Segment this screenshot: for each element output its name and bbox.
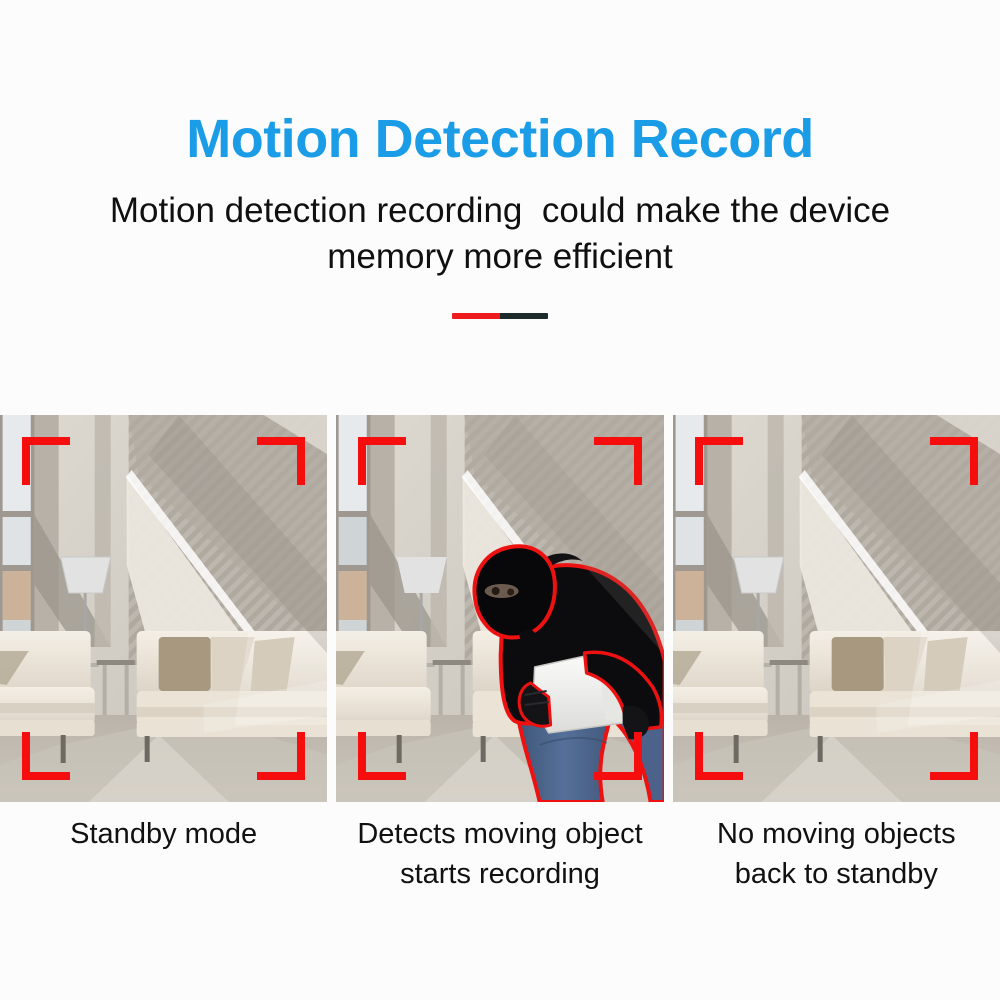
divider-segment-red xyxy=(452,313,500,319)
scene-panel-standby[interactable] xyxy=(0,415,327,802)
room-scene-with-intruder-graphic xyxy=(336,415,663,802)
panel-row xyxy=(0,415,1000,802)
divider-wrapper xyxy=(0,279,1000,319)
caption-detecting: Detects moving object starts recording xyxy=(336,812,663,932)
room-scene-graphic xyxy=(0,415,327,802)
page-subtitle: Motion detection recording could make th… xyxy=(0,166,1000,279)
caption-back-to-standby: No moving objects back to standby xyxy=(673,812,1000,932)
caption-standby: Standby mode xyxy=(0,812,327,932)
caption-row: Standby mode Detects moving object start… xyxy=(0,812,1000,932)
scene-panel-back-to-standby[interactable] xyxy=(673,415,1000,802)
infographic-page: Motion Detection Record Motion detection… xyxy=(0,0,1000,1000)
page-title: Motion Detection Record xyxy=(0,0,1000,166)
divider xyxy=(452,313,548,319)
divider-segment-dark xyxy=(500,313,548,319)
room-scene-graphic xyxy=(673,415,1000,802)
header-section: Motion Detection Record Motion detection… xyxy=(0,0,1000,319)
scene-panel-detecting[interactable] xyxy=(336,415,663,802)
